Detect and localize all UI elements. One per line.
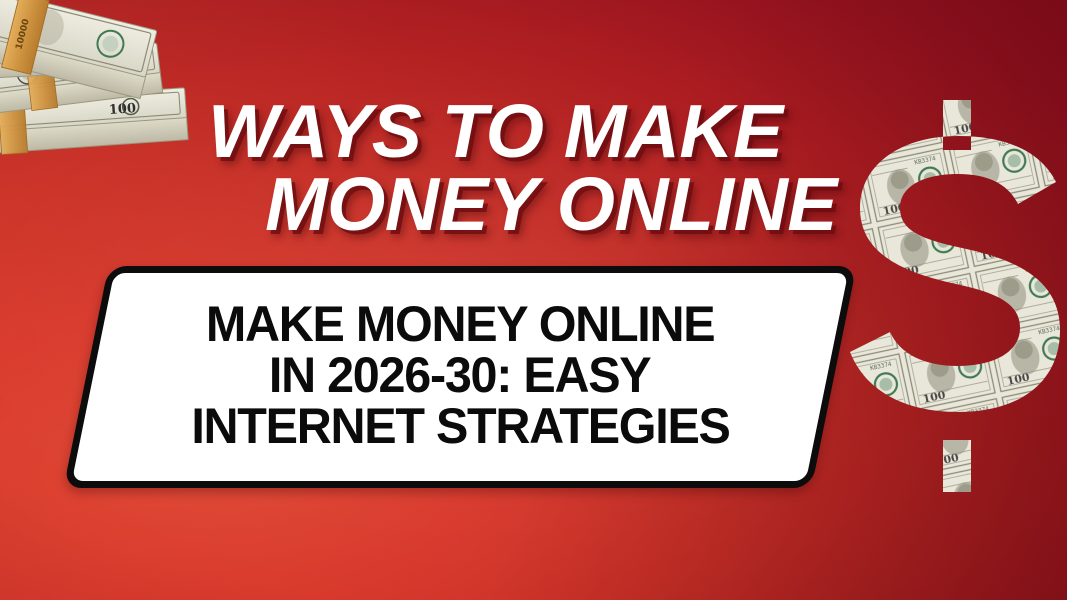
banner-line-3: INTERNET STRATEGIES [191, 401, 729, 452]
money-stacks-image: 100 [0, 0, 201, 174]
dollar-sign-graphic: 100 KB3374 [848, 100, 1064, 492]
svg-text:100: 100 [108, 101, 136, 118]
title-banner: MAKE MONEY ONLINE IN 2026-30: EASY INTER… [86, 266, 834, 488]
banner-line-2: IN 2026-30: EASY [269, 350, 650, 401]
banner-text-block: MAKE MONEY ONLINE IN 2026-30: EASY INTER… [86, 266, 834, 488]
banner-line-1: MAKE MONEY ONLINE [206, 299, 715, 350]
thumbnail-canvas: 100 [0, 0, 1067, 600]
